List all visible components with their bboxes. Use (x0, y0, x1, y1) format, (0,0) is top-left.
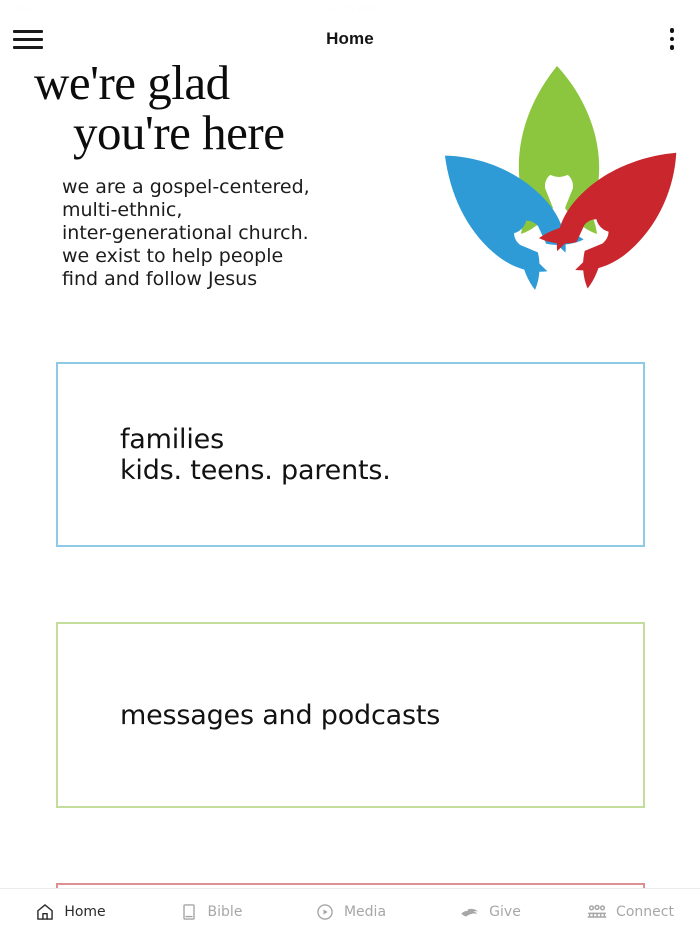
hero-text-block: we're glad you're here we are a gospel-c… (34, 58, 434, 291)
home-icon (34, 901, 56, 923)
logo-head-green (541, 141, 577, 177)
card-families[interactable]: families kids. teens. parents. (56, 362, 645, 547)
status-bar-carrier: iPad (14, 3, 37, 15)
nav-label-bible: Bible (208, 904, 243, 920)
hamburger-menu-icon[interactable] (13, 25, 45, 53)
subcopy-line-1: we are a gospel-centered, (62, 176, 434, 199)
menu-bar-1 (13, 30, 43, 33)
subcopy-line-4: we exist to help people (62, 245, 434, 268)
headline-line-1: we're glad (34, 58, 434, 108)
card-families-label: families kids. teens. parents. (58, 424, 391, 486)
hero-section: we're glad you're here we are a gospel-c… (0, 58, 700, 320)
nav-item-media[interactable]: Media (280, 889, 420, 934)
giving-hand-icon (459, 901, 481, 923)
status-bar-time: 12:25 PM (325, 3, 374, 15)
nav-label-media: Media (344, 904, 386, 920)
app-bar: Home (0, 18, 700, 60)
nav-item-connect[interactable]: Connect (560, 889, 700, 934)
subcopy-line-5: find and follow Jesus (62, 268, 434, 291)
hero-subcopy: we are a gospel-centered, multi-ethnic, … (34, 176, 434, 291)
nav-item-bible[interactable]: Bible (140, 889, 280, 934)
status-bar: iPad 12:25 PM (0, 0, 700, 18)
play-circle-icon (314, 901, 336, 923)
hero-headline: we're glad you're here (34, 58, 434, 158)
card-messages[interactable]: messages and podcasts (56, 622, 645, 808)
nav-label-home: Home (64, 904, 105, 920)
overflow-dot-2 (670, 37, 675, 42)
bottom-navigation-bar: Home Bible Media (0, 888, 700, 934)
page-title: Home (326, 29, 374, 49)
menu-bar-3 (13, 46, 43, 49)
nav-label-give: Give (489, 904, 521, 920)
card-families-line-1: families (120, 424, 391, 455)
nav-item-home[interactable]: Home (0, 889, 140, 934)
subcopy-line-3: inter-generational church. (62, 222, 434, 245)
overflow-menu-icon[interactable] (660, 24, 684, 54)
nav-item-give[interactable]: Give (420, 889, 560, 934)
overflow-dot-3 (670, 45, 675, 50)
headline-line-2: you're here (34, 108, 434, 158)
app-root: iPad 12:25 PM Home we're glad you're her… (0, 0, 700, 934)
card-messages-label: messages and podcasts (58, 700, 440, 731)
three-people-leaves-logo (435, 58, 685, 308)
subcopy-line-2: multi-ethnic, (62, 199, 434, 222)
people-group-icon (586, 901, 608, 923)
book-icon (178, 901, 200, 923)
nav-label-connect: Connect (616, 904, 674, 920)
overflow-dot-1 (670, 28, 675, 33)
card-families-line-2: kids. teens. parents. (120, 455, 391, 486)
menu-bar-2 (13, 38, 43, 41)
